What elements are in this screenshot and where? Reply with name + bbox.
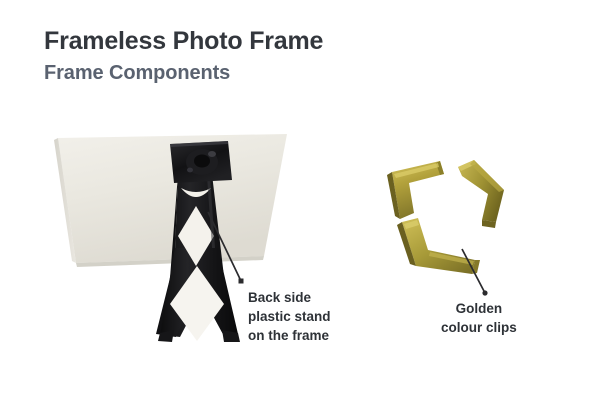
callout-line: plastic stand xyxy=(248,307,331,326)
callout-line: Back side xyxy=(248,288,331,307)
callout-line: Golden xyxy=(441,299,517,318)
page-title: Frameless Photo Frame xyxy=(44,27,323,56)
callout-golden-clips: Golden colour clips xyxy=(441,299,517,337)
stand-mount-bracket xyxy=(170,141,232,183)
callout-plastic-stand: Back side plastic stand on the frame xyxy=(248,288,331,345)
page-subtitle: Frame Components xyxy=(44,62,230,85)
golden-clip-bottom xyxy=(397,218,480,274)
golden-clip-top-left xyxy=(387,161,444,219)
infographic-canvas: Frameless Photo Frame Frame Components xyxy=(0,0,600,400)
callout-line: colour clips xyxy=(441,318,517,337)
frame-backing-board xyxy=(54,134,287,267)
callout-line: on the frame xyxy=(248,326,331,345)
golden-clip-top-right xyxy=(458,160,504,228)
golden-clips-photo xyxy=(378,150,538,290)
